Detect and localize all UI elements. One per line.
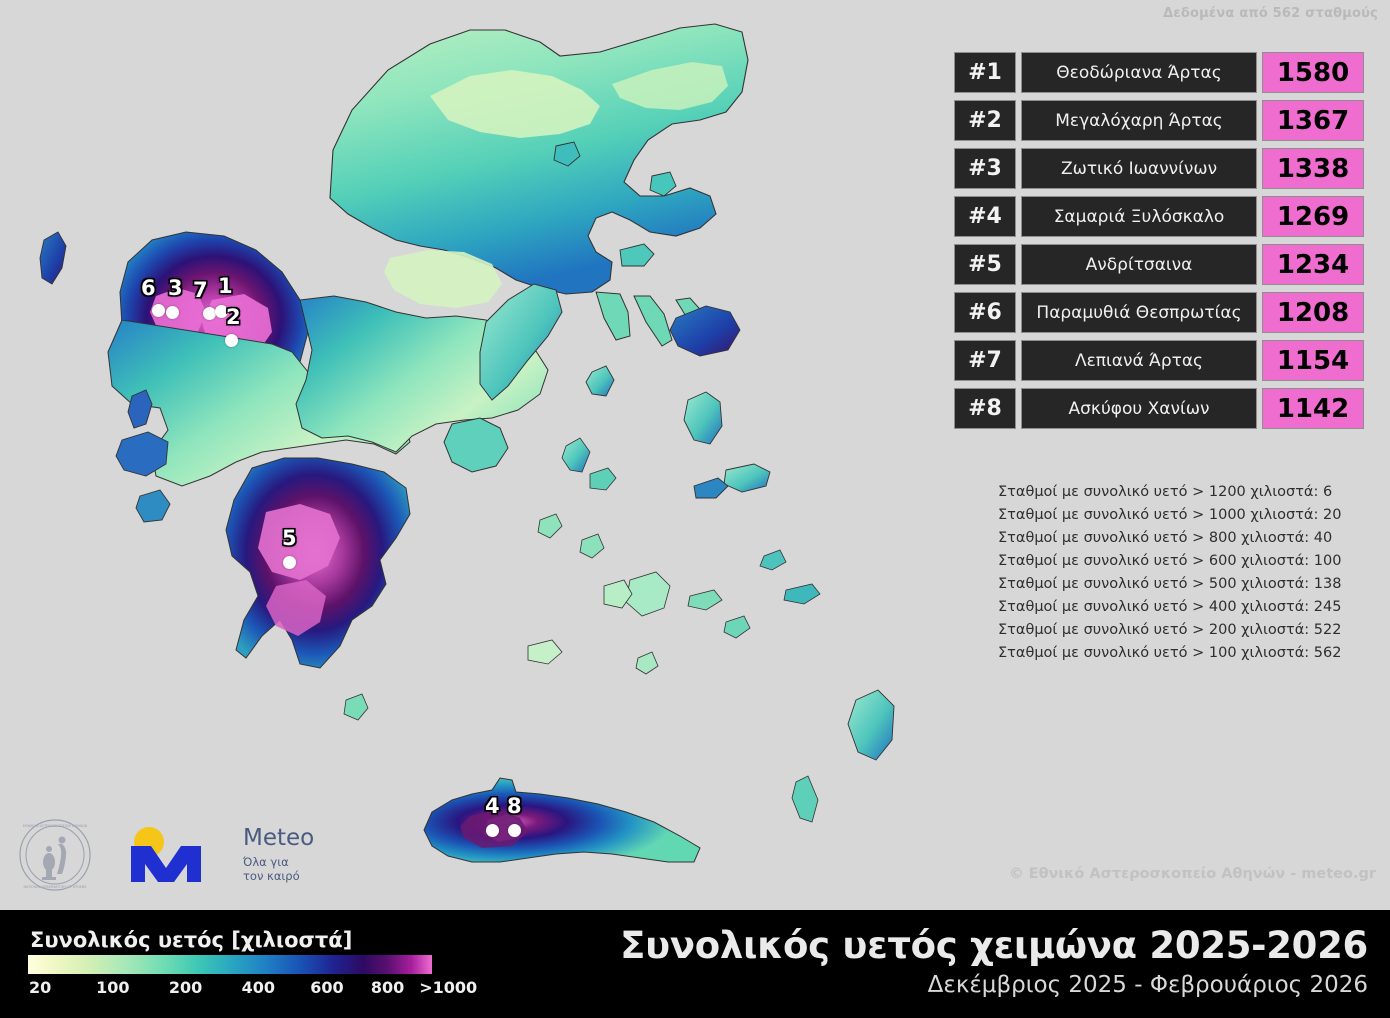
meteo-wordmark: Meteo Όλα για τον καιρό <box>243 827 314 883</box>
island-kalymnos <box>760 550 786 570</box>
list-item: Σταθμοί με συνολικό υετό > 500 χιλιοστά:… <box>998 573 1358 596</box>
marker-label: 7 <box>193 278 208 302</box>
colorbar-tick: 800 <box>371 978 404 997</box>
rank-position: #5 <box>954 244 1016 285</box>
island-amorgos <box>688 590 722 610</box>
meteo-mark-icon <box>125 824 237 886</box>
marker-dot <box>508 824 521 837</box>
meteo-logo: Meteo Όλα για τον καιρό <box>125 824 314 886</box>
table-row[interactable]: #3 Ζωτικό Ιωαννίνων 1338 <box>954 148 1364 189</box>
island-skyros <box>586 366 614 396</box>
poster-root: Δεδομένα από 562 σταθμούς <box>0 0 1390 1018</box>
list-item: Σταθμοί με συνολικό υετό > 1000 χιλιοστά… <box>998 504 1358 527</box>
rank-station: Παραμυθιά Θεσπρωτίας <box>1021 292 1257 333</box>
table-row[interactable]: #5 Ανδρίτσαινα 1234 <box>954 244 1364 285</box>
list-item: Σταθμοί με συνολικό υετό > 1200 χιλιοστά… <box>998 481 1358 504</box>
precipitation-map[interactable]: 6 3 7 1 2 5 4 8 <box>0 0 940 910</box>
marker-label: 2 <box>226 305 241 329</box>
rank-position: #2 <box>954 100 1016 141</box>
meteo-tagline-line1: Όλα για <box>243 855 314 869</box>
island-samos <box>724 464 770 492</box>
colorbar-title: Συνολικός υετός [χιλιοστά] <box>30 928 352 952</box>
colorbar-tick: 100 <box>96 978 129 997</box>
island-syros <box>580 534 604 558</box>
table-row[interactable]: #1 Θεοδώριανα Άρτας 1580 <box>954 52 1364 93</box>
marker-dot <box>152 304 165 317</box>
island-limnos <box>620 244 654 266</box>
rank-value: 1338 <box>1262 148 1364 189</box>
island-thasos <box>650 172 676 196</box>
marker-dot <box>203 307 216 320</box>
rank-station: Ασκύφου Χανίων <box>1021 388 1257 429</box>
marker-dot <box>166 306 179 319</box>
list-item: Σταθμοί με συνολικό υετό > 100 χιλιοστά:… <box>998 642 1358 665</box>
marker-label: 5 <box>282 526 297 550</box>
island-kos <box>784 584 820 604</box>
island-santorini <box>636 652 658 674</box>
rank-value: 1234 <box>1262 244 1364 285</box>
island-kythira <box>344 694 368 720</box>
bottom-banner: Συνολικός υετός [χιλιοστά] 20 100 200 40… <box>0 910 1390 1018</box>
data-source-note: Δεδομένα από 562 σταθμούς <box>1163 6 1378 21</box>
table-row[interactable]: #7 Λεπιανά Άρτας 1154 <box>954 340 1364 381</box>
marker-label: 3 <box>168 276 183 300</box>
rank-value: 1367 <box>1262 100 1364 141</box>
table-row[interactable]: #2 Μεγαλόχαρη Άρτας 1367 <box>954 100 1364 141</box>
island-chios <box>684 392 722 444</box>
meteo-tagline-line2: τον καιρό <box>243 869 314 883</box>
rank-value: 1154 <box>1262 340 1364 381</box>
national-observatory-seal-icon: ΕΘΝΙΚΟΝ ΑΣΤΕΡΟΣΚΟΠΕΙΟΝ ΑΘΗΝΩΝ NATIONAL O… <box>18 818 92 892</box>
rank-position: #4 <box>954 196 1016 237</box>
list-item: Σταθμοί με συνολικό υετό > 200 χιλιοστά:… <box>998 619 1358 642</box>
logo-group: ΕΘΝΙΚΟΝ ΑΣΤΕΡΟΣΚΟΠΕΙΟΝ ΑΘΗΝΩΝ NATIONAL O… <box>18 818 314 892</box>
list-item: Σταθμοί με συνολικό υετό > 400 χιλιοστά:… <box>998 596 1358 619</box>
list-item: Σταθμοί με συνολικό υετό > 800 χιλιοστά:… <box>998 527 1358 550</box>
colorbar-ticks: 20 100 200 400 600 800 >1000 <box>28 978 432 1002</box>
map-landmasses <box>40 24 894 862</box>
rank-value: 1269 <box>1262 196 1364 237</box>
threshold-stats-list: Σταθμοί με συνολικό υετό > 1200 χιλιοστά… <box>998 481 1358 665</box>
island-lesvos <box>670 306 740 356</box>
colorbar-tick: 200 <box>169 978 202 997</box>
marker-label: 8 <box>507 794 522 818</box>
marker-dot <box>225 334 238 347</box>
rank-station: Λεπιανά Άρτας <box>1021 340 1257 381</box>
page-subtitle: Δεκέμβριος 2025 - Φεβρουάριος 2026 <box>928 972 1368 998</box>
table-row[interactable]: #8 Ασκύφου Χανίων 1142 <box>954 388 1364 429</box>
island-kea-kythnos <box>538 514 562 538</box>
rank-position: #8 <box>954 388 1016 429</box>
region-crete <box>424 778 700 862</box>
island-milos <box>528 640 562 664</box>
colorbar-tick: 20 <box>29 978 51 997</box>
island-tinos-mykonos <box>590 468 616 490</box>
rank-position: #6 <box>954 292 1016 333</box>
rank-station: Μεγαλόχαρη Άρτας <box>1021 100 1257 141</box>
rank-station: Ζωτικό Ιωαννίνων <box>1021 148 1257 189</box>
island-andros <box>562 438 590 472</box>
svg-text:NATIONAL OBSERVATORY OF ATHENS: NATIONAL OBSERVATORY OF ATHENS <box>24 885 87 889</box>
colorbar-tick: 400 <box>242 978 275 997</box>
rank-station: Σαμαριά Ξυλόσκαλο <box>1021 196 1257 237</box>
island-zakynthos <box>136 490 170 522</box>
island-ikaria <box>694 478 728 498</box>
rank-position: #1 <box>954 52 1016 93</box>
copyright-notice: © Εθνικό Αστεροσκοπείο Αθηνών - meteo.gr <box>1009 866 1376 882</box>
colorbar-tick: >1000 <box>419 978 477 997</box>
marker-label: 4 <box>485 794 500 818</box>
island-astypalaia <box>724 616 750 638</box>
rank-station: Θεοδώριανα Άρτας <box>1021 52 1257 93</box>
colorbar-gradient <box>28 955 432 974</box>
marker-label: 1 <box>218 274 233 298</box>
svg-text:ΕΘΝΙΚΟΝ ΑΣΤΕΡΟΣΚΟΠΕΙΟΝ ΑΘΗΝΩΝ: ΕΘΝΙΚΟΝ ΑΣΤΕΡΟΣΚΟΠΕΙΟΝ ΑΘΗΝΩΝ <box>23 824 88 828</box>
marker-label: 6 <box>141 276 156 300</box>
island-karpathos <box>792 776 818 822</box>
rank-position: #3 <box>954 148 1016 189</box>
rank-value: 1142 <box>1262 388 1364 429</box>
island-naxos <box>626 572 670 616</box>
rank-position: #7 <box>954 340 1016 381</box>
marker-dot <box>486 824 499 837</box>
rank-value: 1208 <box>1262 292 1364 333</box>
meteo-name: Meteo <box>243 827 314 850</box>
rank-value: 1580 <box>1262 52 1364 93</box>
island-corfu <box>40 232 66 284</box>
rank-station: Ανδρίτσαινα <box>1021 244 1257 285</box>
table-row[interactable]: #4 Σαμαριά Ξυλόσκαλο 1269 <box>954 196 1364 237</box>
top-stations-table: #1 Θεοδώριανα Άρτας 1580 #2 Μεγαλόχαρη Ά… <box>954 52 1364 436</box>
region-attica <box>444 418 508 472</box>
marker-dot <box>283 556 296 569</box>
island-rhodes <box>848 690 894 760</box>
list-item: Σταθμοί με συνολικό υετό > 600 χιλιοστά:… <box>998 550 1358 573</box>
colorbar-tick: 600 <box>310 978 343 997</box>
greece-map-svg <box>0 0 940 910</box>
page-title: Συνολικός υετός χειμώνα 2025-2026 <box>620 924 1368 967</box>
table-row[interactable]: #6 Παραμυθιά Θεσπρωτίας 1208 <box>954 292 1364 333</box>
